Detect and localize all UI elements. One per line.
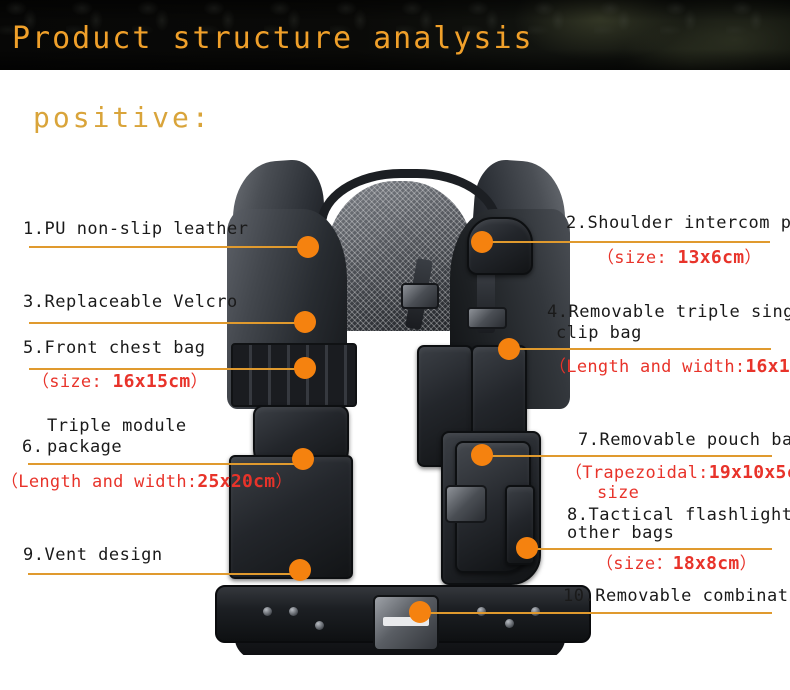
belt-rivet xyxy=(505,619,514,628)
callout-9-leader-line xyxy=(28,573,300,575)
callout-10-leader-line xyxy=(420,612,772,614)
callout-5-size: （size: 16x15cm） xyxy=(32,372,208,392)
callout-4-leader-line xyxy=(519,348,771,350)
belt-rivet xyxy=(263,607,272,616)
callout-6-label-line1: Triple module xyxy=(47,416,187,437)
callout-8-size-value: 18x8cm xyxy=(673,553,740,574)
callout-10-marker-dot xyxy=(409,601,431,623)
callout-4-number: 4. xyxy=(547,302,568,322)
callout-7-leader-line xyxy=(482,455,772,457)
callout-7-number: 7. xyxy=(578,430,599,450)
belt-rivet xyxy=(315,621,324,630)
callout-1-label: 1.PU non-slip leather xyxy=(23,219,248,240)
callout-5-size-value: 16x15cm xyxy=(113,371,191,392)
callout-4-size-value: 16x15cm xyxy=(745,356,790,377)
callout-8-number: 8. xyxy=(567,505,588,525)
callout-3-label: 3.Replaceable Velcro xyxy=(23,292,238,313)
callout-9-label: 9.Vent design xyxy=(23,545,163,566)
callout-2-number: 2. xyxy=(566,213,587,233)
callout-3-marker-dot xyxy=(294,311,316,333)
callout-2-size-value: 13x6cm xyxy=(678,247,745,268)
callout-4-label-line2: clip bag xyxy=(556,323,642,344)
callout-8-size: （size：18x8cm） xyxy=(596,554,757,574)
callout-8-label-line2: other bags xyxy=(567,523,674,544)
callout-4-text-line1: Removable triple single xyxy=(568,302,790,322)
belt-buckle xyxy=(373,595,439,651)
callout-4-marker-dot xyxy=(498,338,520,360)
callout-8-size-suffix: ） xyxy=(740,554,757,574)
callout-7-text: Removable pouch bag xyxy=(599,430,790,450)
callout-6-number: 6. xyxy=(22,437,43,458)
callout-4-label-line1: 4.Removable triple single xyxy=(547,302,790,323)
holster-buckle xyxy=(445,485,487,523)
callout-2-size-prefix: （size: xyxy=(597,248,678,268)
callout-9-number: 9. xyxy=(23,545,44,565)
callout-2-text: Shoulder intercom pocket xyxy=(587,213,790,233)
callout-3-text: Replaceable Velcro xyxy=(44,292,237,312)
vest-buckle-right xyxy=(467,307,507,329)
callout-9-text: Vent design xyxy=(44,545,162,565)
callout-2-label: 2.Shoulder intercom pocket xyxy=(566,213,790,234)
callout-6-leader-line xyxy=(28,463,303,465)
callout-4-size: （Length and width:16x15cm） xyxy=(549,357,790,377)
callout-5-size-prefix: （size: xyxy=(32,372,113,392)
callout-1-leader-line xyxy=(29,246,309,248)
callout-3-number: 3. xyxy=(23,292,44,312)
callout-5-text: Front chest bag xyxy=(44,338,205,358)
callout-5-label: 5.Front chest bag xyxy=(23,338,206,359)
callout-10-label: 10.Removable combination belt xyxy=(563,586,790,607)
callout-7-marker-dot xyxy=(471,444,493,466)
callout-5-marker-dot xyxy=(294,357,316,379)
callout-9-marker-dot xyxy=(289,559,311,581)
callout-5-size-suffix: ） xyxy=(190,372,207,392)
callout-7-size-value: 19x10x5cm xyxy=(709,462,790,483)
footer-whitespace xyxy=(0,656,790,690)
callout-6-size: （Length and width:25x20cm） xyxy=(1,472,293,492)
callout-7-label: 7.Removable pouch bag xyxy=(578,430,790,451)
callout-6-label-line2: package xyxy=(47,437,122,458)
callout-10-number: 10. xyxy=(563,586,595,606)
callout-6-size-suffix: ） xyxy=(275,472,292,492)
callout-4-size-prefix: （Length and width: xyxy=(549,357,745,377)
page-title: Product structure analysis xyxy=(12,21,534,56)
callout-8-leader-line xyxy=(528,548,772,550)
callout-5-leader-line xyxy=(29,368,305,370)
callout-1-text: PU non-slip leather xyxy=(44,219,248,239)
callout-1-marker-dot xyxy=(297,236,319,258)
callout-2-size-suffix: ） xyxy=(744,248,761,268)
molle-webbing-panel xyxy=(231,343,357,407)
product-photo-tactical-vest xyxy=(205,155,595,655)
callout-2-size: （size: 13x6cm） xyxy=(597,248,762,268)
callout-8-size-prefix: （size： xyxy=(596,554,673,574)
callout-6-size-prefix: （Length and width: xyxy=(1,472,197,492)
callout-6-marker-dot xyxy=(292,448,314,470)
section-subtitle: positive: xyxy=(33,101,212,134)
callout-1-number: 1. xyxy=(23,219,44,239)
callout-3-leader-line xyxy=(29,322,306,324)
callout-8-text-line1: Tactical flashlight and xyxy=(588,505,790,525)
callout-2-leader-line xyxy=(482,241,770,243)
header-banner: Product structure analysis xyxy=(0,0,790,70)
callout-6-size-value: 25x20cm xyxy=(197,471,275,492)
callout-5-number: 5. xyxy=(23,338,44,358)
callout-7-size-prefix: （Trapezoidal: xyxy=(565,463,709,483)
belt-rivet xyxy=(289,607,298,616)
callout-10-text: Removable combination belt xyxy=(595,586,790,606)
product-structure-infographic: Product structure analysis positive: xyxy=(0,0,790,690)
callout-8-marker-dot xyxy=(516,537,538,559)
callout-7-size-line2: size xyxy=(597,483,639,503)
callout-7-size: （Trapezoidal:19x10x5cm） xyxy=(565,463,790,483)
callout-2-marker-dot xyxy=(471,231,493,253)
vest-buckle-center xyxy=(401,283,439,309)
